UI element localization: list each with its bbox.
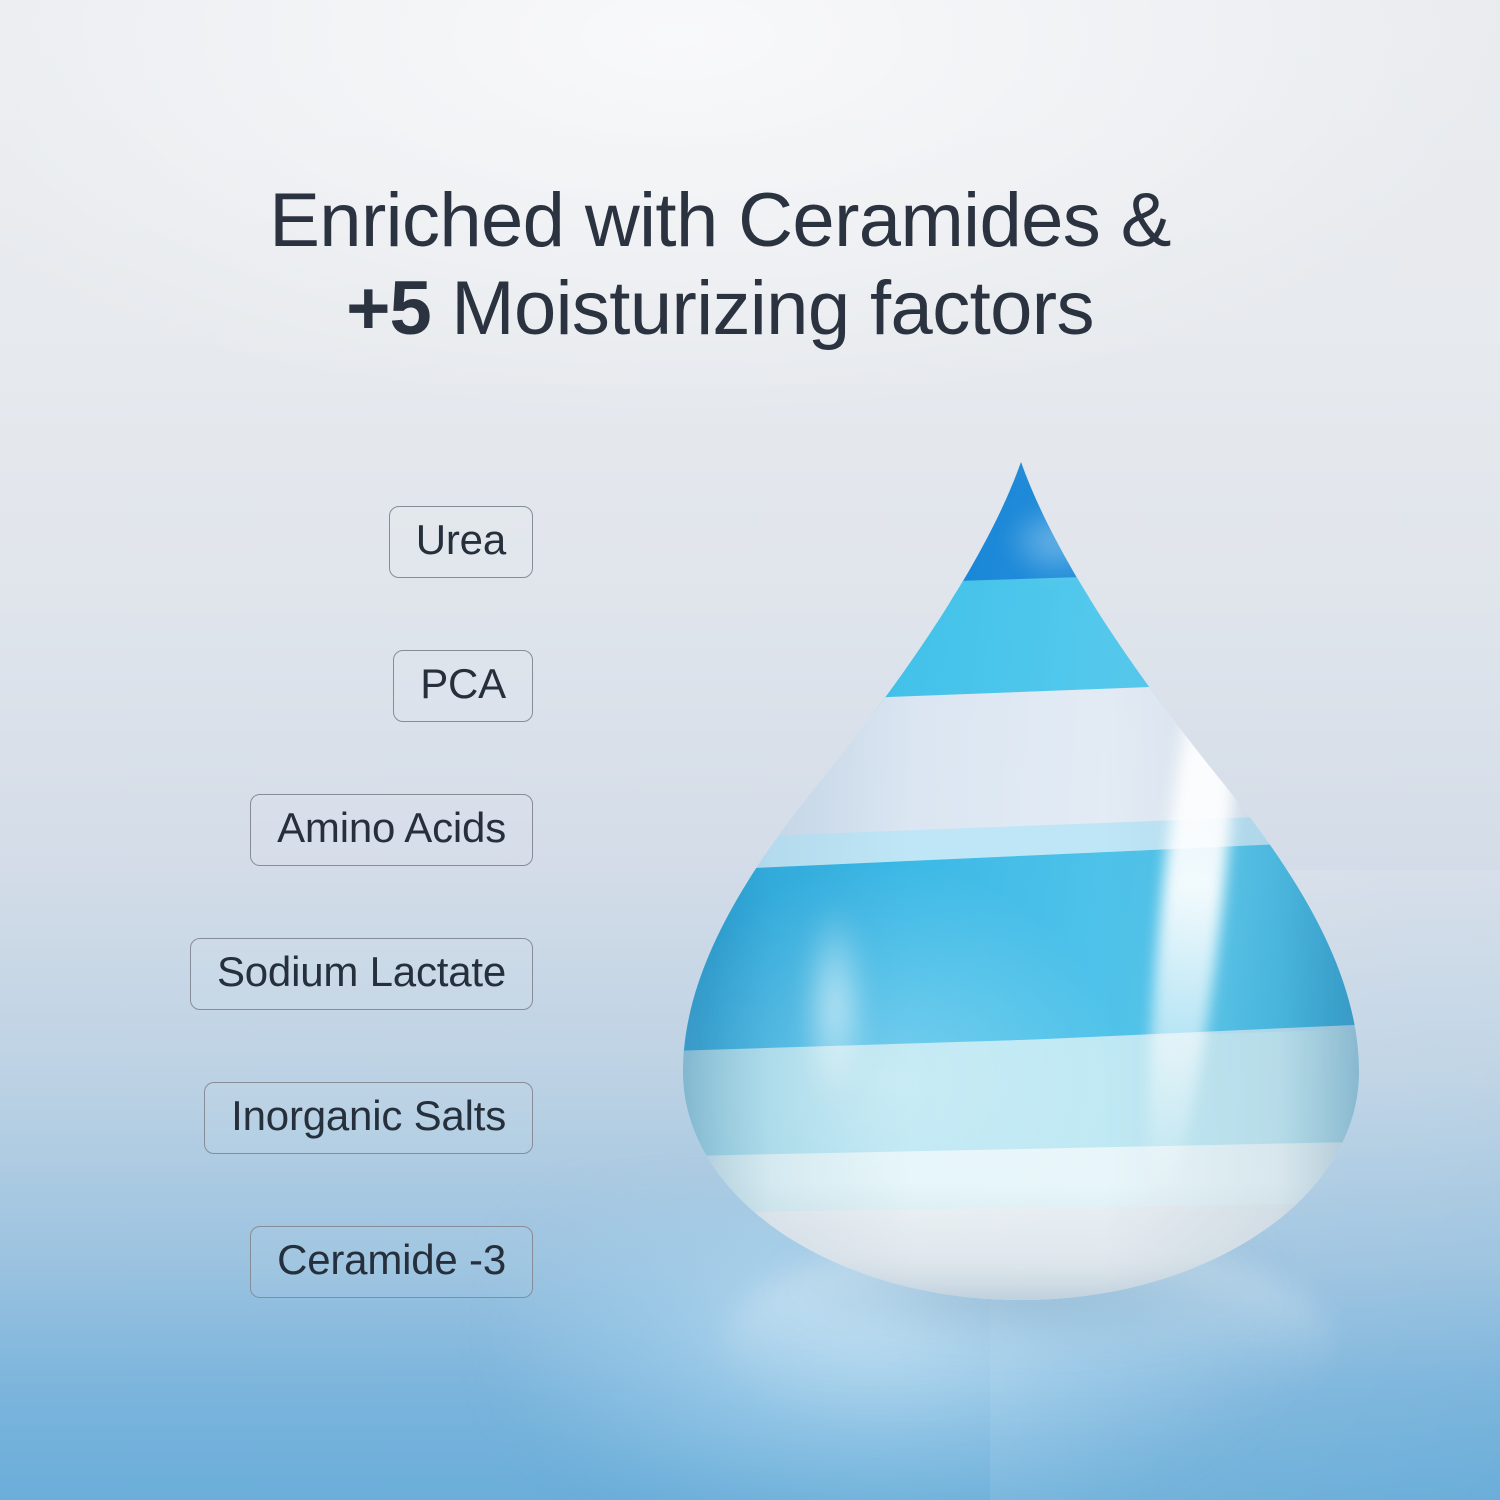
- ingredient-chip-ceramide-3: Ceramide -3: [250, 1226, 533, 1298]
- ingredient-chip-sodium-lactate: Sodium Lactate: [190, 938, 533, 1010]
- headline-emphasis-plus-five: +5: [346, 266, 431, 351]
- ingredient-chip-amino-acids: Amino Acids: [250, 794, 533, 866]
- page-title: Enriched with Ceramides & +5 Moisturizin…: [0, 177, 1440, 353]
- droplet-body: [683, 462, 1359, 1300]
- ingredient-chip-list: Urea PCA Amino Acids Sodium Lactate Inor…: [0, 506, 533, 1298]
- ingredient-chip-pca: PCA: [393, 650, 533, 722]
- headline-line-1: Enriched with Ceramides &: [0, 177, 1440, 265]
- droplet-rim-shading: [683, 462, 1359, 1300]
- headline-line-2: +5 Moisturizing factors: [0, 265, 1440, 353]
- ingredient-chip-inorganic-salts: Inorganic Salts: [204, 1082, 533, 1154]
- ingredient-chip-urea: Urea: [389, 506, 533, 578]
- product-feature-image: Enriched with Ceramides & +5 Moisturizin…: [0, 0, 1500, 1500]
- water-droplet-illustration: [683, 462, 1359, 1300]
- headline-line-2-rest: Moisturizing factors: [431, 266, 1094, 351]
